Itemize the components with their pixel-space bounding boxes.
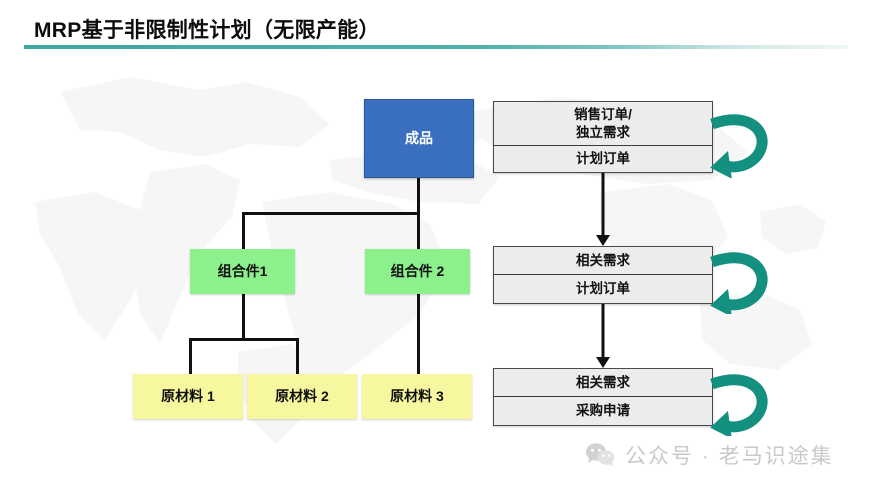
level-3-demand-row: 相关需求 bbox=[494, 369, 712, 397]
flow-arrow-level2-to-level3 bbox=[589, 304, 617, 368]
level-3-output-row: 采购申请 bbox=[494, 397, 712, 425]
level-1-panel[interactable]: 销售订单/ 独立需求 计划订单 bbox=[493, 101, 713, 173]
bom-node-material-1[interactable]: 原材料 1 bbox=[133, 374, 243, 419]
bom-node-assembly-1-label: 组合件1 bbox=[218, 263, 268, 279]
level-3-loop-arrow-icon bbox=[706, 370, 768, 436]
bom-node-finished-label: 成品 bbox=[405, 130, 433, 146]
slide-canvas: MRP基于非限制性计划（无限产能） 成品 组合件1 组合件 2 原材料 1 原材… bbox=[0, 0, 872, 491]
bom-node-material-3-label: 原材料 3 bbox=[390, 388, 444, 404]
level-2-output-label: 计划订单 bbox=[576, 280, 630, 298]
connector-to-material-2 bbox=[296, 338, 299, 374]
level-2-demand-row: 相关需求 bbox=[494, 247, 712, 275]
footer-watermark-text: 公众号 · 老马识途集 bbox=[625, 440, 834, 470]
level-1-demand-line2: 独立需求 bbox=[576, 125, 630, 140]
level-3-demand-label: 相关需求 bbox=[576, 374, 630, 392]
level-1-output-row: 计划订单 bbox=[494, 146, 712, 172]
bom-node-assembly-2-label: 组合件 2 bbox=[391, 263, 445, 279]
bom-node-assembly-1[interactable]: 组合件1 bbox=[190, 249, 295, 294]
level-1-demand-line1: 销售订单/ bbox=[574, 107, 632, 122]
bom-node-material-2-label: 原材料 2 bbox=[275, 388, 329, 404]
connector-material-bar bbox=[189, 338, 299, 341]
bom-node-material-2[interactable]: 原材料 2 bbox=[247, 374, 357, 419]
level-1-demand-row: 销售订单/ 独立需求 bbox=[494, 102, 712, 146]
bom-node-finished[interactable]: 成品 bbox=[364, 99, 474, 178]
wechat-icon bbox=[585, 442, 615, 468]
connector-finished-trunk bbox=[417, 178, 420, 214]
footer-watermark: 公众号 · 老马识途集 bbox=[585, 440, 834, 470]
level-2-loop-arrow-icon bbox=[706, 248, 768, 314]
page-title: MRP基于非限制性计划（无限产能） bbox=[34, 14, 380, 44]
connector-to-assembly-1 bbox=[242, 212, 245, 249]
level-2-panel[interactable]: 相关需求 计划订单 bbox=[493, 246, 713, 304]
header-divider bbox=[24, 45, 848, 49]
connector-to-material-1 bbox=[189, 338, 192, 374]
bom-node-material-3[interactable]: 原材料 3 bbox=[362, 374, 472, 419]
level-2-output-row: 计划订单 bbox=[494, 275, 712, 303]
level-1-loop-arrow-icon bbox=[706, 108, 768, 178]
connector-to-material-3 bbox=[417, 294, 420, 374]
connector-assembly-bar bbox=[242, 212, 420, 215]
level-3-output-label: 采购申请 bbox=[576, 402, 630, 420]
connector-assembly1-trunk bbox=[242, 294, 245, 341]
level-1-output-label: 计划订单 bbox=[576, 150, 630, 168]
level-2-demand-label: 相关需求 bbox=[576, 252, 630, 270]
connector-to-assembly-2 bbox=[417, 212, 420, 249]
bom-node-material-1-label: 原材料 1 bbox=[161, 388, 215, 404]
flow-arrow-level1-to-level2 bbox=[589, 173, 617, 246]
bom-node-assembly-2[interactable]: 组合件 2 bbox=[365, 249, 470, 294]
level-3-panel[interactable]: 相关需求 采购申请 bbox=[493, 368, 713, 426]
